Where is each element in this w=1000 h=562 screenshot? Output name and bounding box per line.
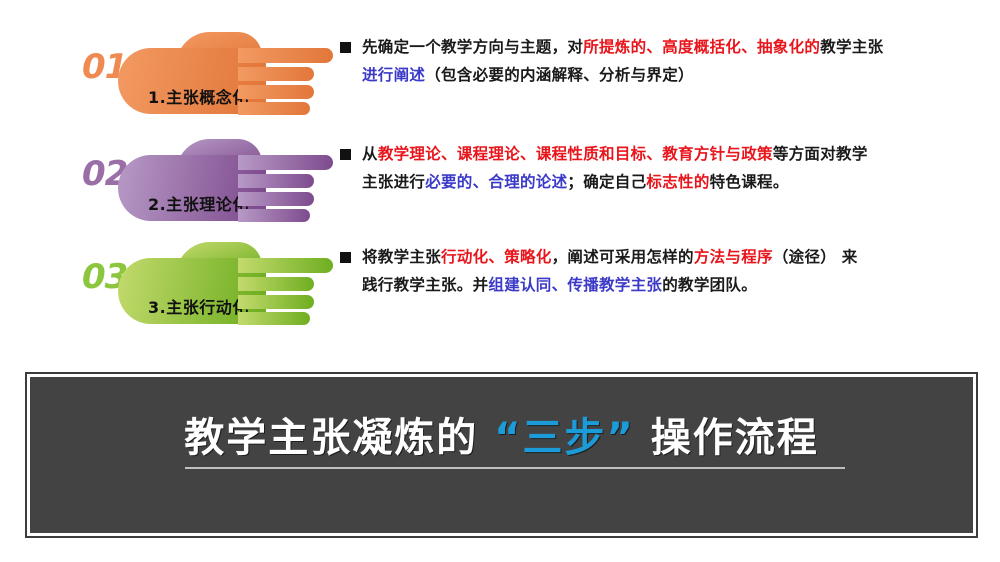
pointing-hand-icon-1: 1.主张概念化 [118,32,333,114]
hand-finger-index [238,48,333,63]
step-paragraph-1: 先确定一个教学方向与主题，对所提炼的、高度概括化、抽象化的教学主张进行阐述（包含… [362,33,972,89]
text-run: （包含必要的内涵解释、分析与界定） [425,66,694,84]
hand-finger-pinky [238,209,310,222]
pointing-hand-icon-2: 2.主张理论化 [118,139,333,221]
hand-finger-middle [238,67,314,81]
title-panel-inner: 教学主张凝炼的 “三步” 操作流程 [30,377,973,533]
text-run: 必要的、合理的论述 [425,173,567,191]
text-run: 等方面对教学 [773,145,868,163]
pointing-hand-icon-3: 3.主张行动化 [118,242,333,324]
text-run: 所提炼的、高度概括化、抽象化的 [583,38,820,56]
hand-finger-ring [238,295,314,309]
text-run: 组建认同、传播教学主张 [488,276,662,294]
text-run: 方法与程序 [694,248,773,266]
text-run: 先确定一个教学方向与主题，对 [362,38,583,56]
hand-finger-ring [238,192,314,206]
text-run: （途径） 来 [773,248,858,266]
text-run: 教学主张 [820,38,883,56]
hand-finger-ring [238,85,314,99]
step-row-1: 01 1.主张概念化 先确定一个教学方向与主题，对所提炼的、高度概括化、抽象化的… [0,18,1000,123]
text-run: 行动化、策略化 [441,248,552,266]
title-underline-rule [185,467,845,469]
bullet-square-icon-3 [340,252,351,263]
hand-finger-index [238,258,333,273]
slide-canvas: 01 1.主张概念化 先确定一个教学方向与主题，对所提炼的、高度概括化、抽象化的… [0,0,1000,562]
text-run: 标志性的 [646,173,709,191]
panel-title-prefix: 教学主张凝炼的 [184,415,494,461]
text-run: 的教学团队。 [662,276,757,294]
panel-title-highlight: “三步” [494,415,635,461]
text-run: 主张进行 [362,173,425,191]
hand-finger-middle [238,174,314,188]
text-run: ，阐述可采用怎样的 [552,248,694,266]
text-run: 进行阐述 [362,66,425,84]
step-paragraph-2: 从教学理论、课程理论、课程性质和目标、教育方针与政策等方面对教学主张进行必要的、… [362,140,972,196]
text-run: 将教学主张 [362,248,441,266]
bullet-square-icon-2 [340,149,351,160]
hand-finger-index [238,155,333,170]
bullet-square-icon-1 [340,42,351,53]
text-run: 践行教学主张。并 [362,276,488,294]
text-run: ；确定自己 [567,173,646,191]
title-panel: 教学主张凝炼的 “三步” 操作流程 [25,372,978,538]
text-run: 从 [362,145,378,163]
panel-title: 教学主张凝炼的 “三步” 操作流程 [30,405,973,463]
step-row-3: 03 3.主张行动化 将教学主张行动化、策略化，阐述可采用怎样的方法与程序（途径… [0,228,1000,333]
panel-title-suffix: 操作流程 [635,415,819,461]
hand-finger-pinky [238,312,310,325]
hand-finger-pinky [238,102,310,115]
step-row-2: 02 2.主张理论化 从教学理论、课程理论、课程性质和目标、教育方针与政策等方面… [0,125,1000,230]
step-paragraph-3: 将教学主张行动化、策略化，阐述可采用怎样的方法与程序（途径） 来践行教学主张。并… [362,243,972,299]
hand-finger-middle [238,277,314,291]
text-run: 特色课程。 [710,173,789,191]
text-run: 教学理论、课程理论、课程性质和目标、教育方针与政策 [378,145,773,163]
